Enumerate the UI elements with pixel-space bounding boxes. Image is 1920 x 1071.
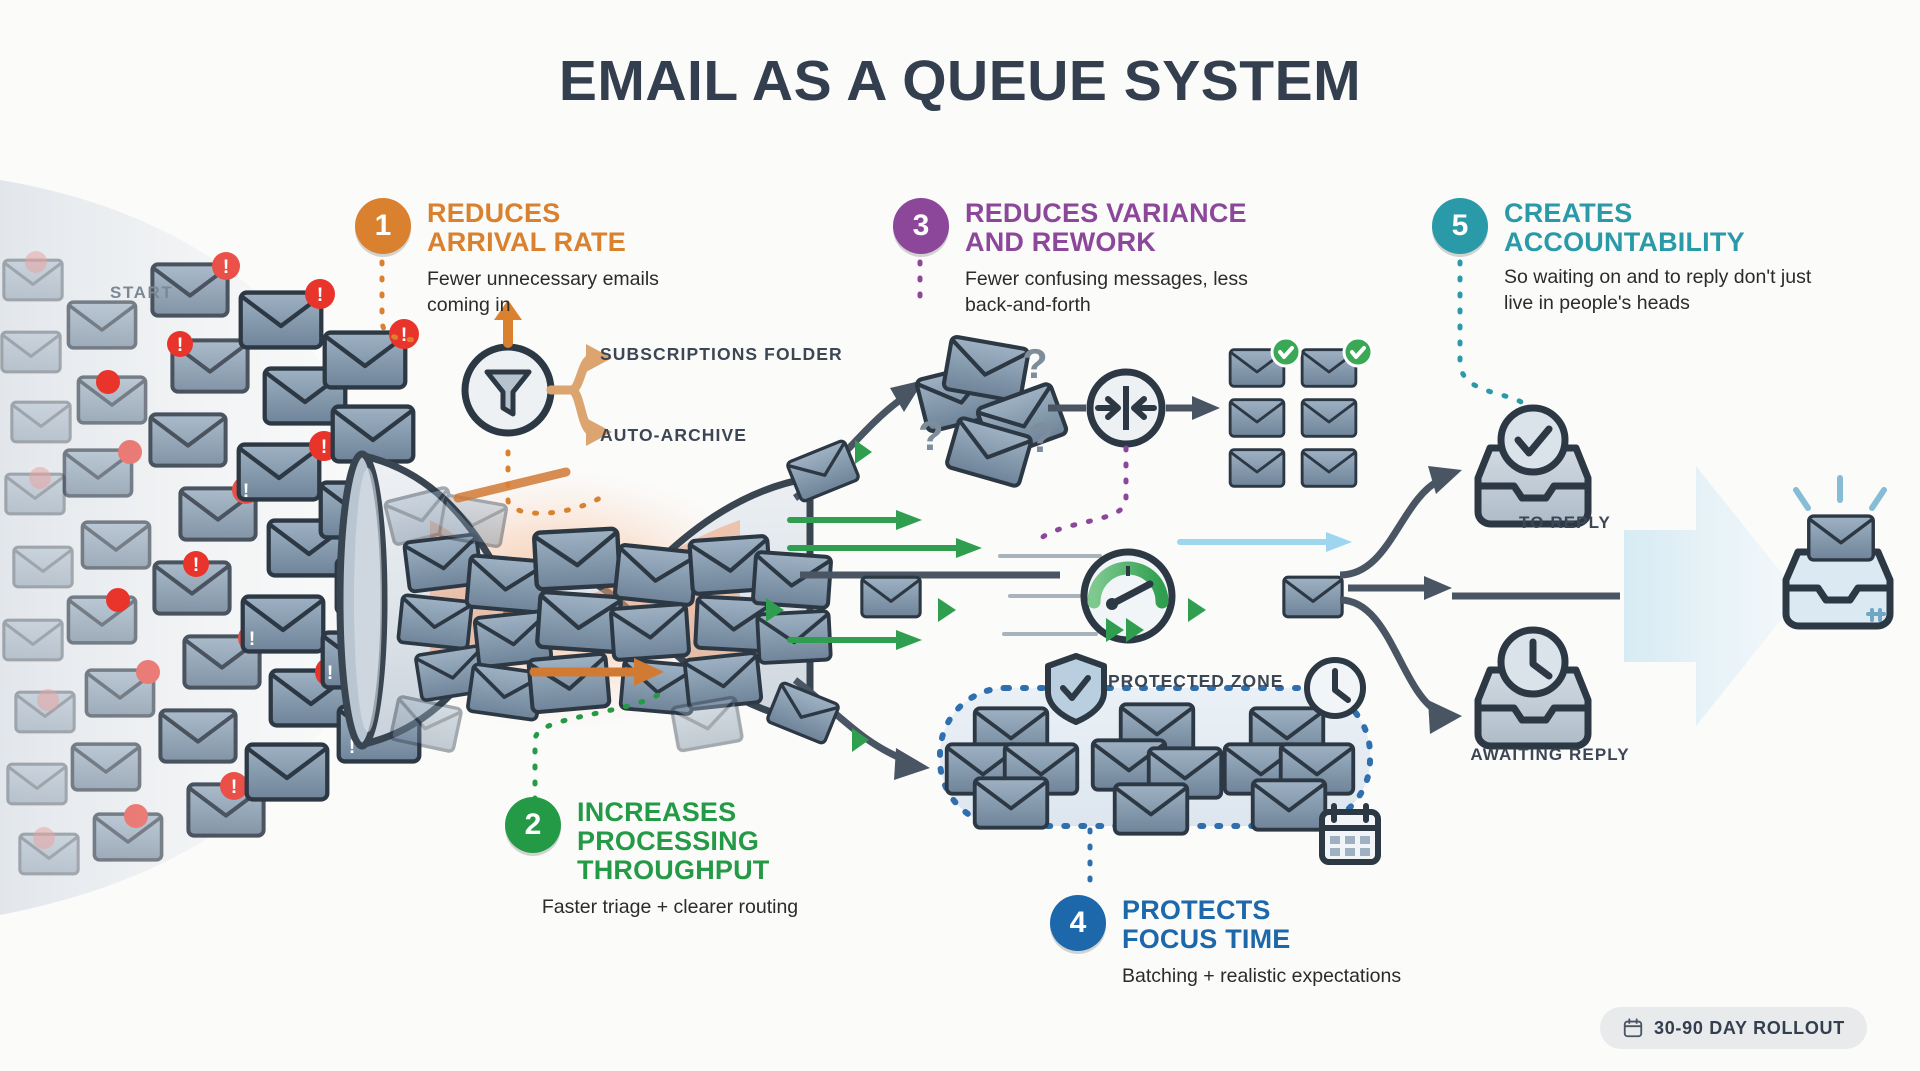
callout-creates-accountability: 5 CREATES ACCOUNTABILITY So waiting on a…: [1432, 196, 1844, 316]
svg-text:!: !: [193, 555, 199, 576]
diagram-artwork: !! !! !! !! !! !! !!: [0, 0, 1920, 1071]
callout-reduces-arrival-rate: 1 REDUCES ARRIVAL RATE Fewer unnecessary…: [355, 196, 697, 318]
rollout-badge-label: 30-90 DAY ROLLOUT: [1654, 1018, 1845, 1039]
protected-zone-label: PROTECTED ZONE: [1108, 671, 1283, 692]
filter-icon-group: [465, 300, 612, 446]
svg-text:!: !: [177, 335, 183, 356]
svg-text:!: !: [347, 513, 353, 534]
svg-text:!: !: [249, 629, 255, 650]
callout-5-subtitle: So waiting on and to reply don't just li…: [1504, 265, 1844, 316]
start-label: START: [110, 283, 173, 303]
callout-reduces-variance-and-rework: 3 REDUCES VARIANCE AND REWORK Fewer conf…: [893, 196, 1265, 318]
svg-text:!: !: [317, 285, 323, 306]
callout-2-subtitle: Faster triage + clearer routing: [505, 895, 835, 920]
svg-text:!: !: [243, 481, 249, 502]
rollout-badge: 30-90 DAY ROLLOUT: [1600, 1007, 1867, 1049]
callout-4-subtitle: Batching + realistic expectations: [1122, 964, 1482, 989]
callout-3-title: REDUCES VARIANCE AND REWORK: [965, 196, 1247, 257]
svg-text:!: !: [231, 777, 237, 798]
callout-1-title-line-1: REDUCES: [427, 199, 626, 228]
callout-protects-focus-time: 4 PROTECTS FOCUS TIME Batching + realist…: [1050, 893, 1482, 990]
svg-text:?: ?: [1022, 340, 1048, 387]
svg-text:?: ?: [1028, 414, 1054, 461]
svg-text:!: !: [349, 737, 355, 758]
awaiting-reply-tray-group: [1478, 630, 1588, 746]
callout-2-title: INCREASES PROCESSING THROUGHPUT: [577, 795, 770, 885]
callout-5-title: CREATES ACCOUNTABILITY: [1504, 196, 1745, 257]
callout-4-number: 4: [1050, 895, 1106, 951]
callout-4-title-line-2: FOCUS TIME: [1122, 925, 1291, 954]
clean-inbox-group: [1786, 478, 1890, 626]
subscriptions-folder-label: SUBSCRIPTIONS FOLDER: [600, 344, 843, 365]
callout-2-title-line-1: INCREASES: [577, 798, 770, 827]
svg-text:!: !: [223, 257, 229, 278]
callout-1-title: REDUCES ARRIVAL RATE: [427, 196, 626, 257]
callout-1-number: 1: [355, 198, 411, 254]
callout-5-number: 5: [1432, 198, 1488, 254]
callout-3-title-line-2: AND REWORK: [965, 228, 1247, 257]
page-title: EMAIL AS A QUEUE SYSTEM: [0, 48, 1920, 114]
callout-2-number: 2: [505, 797, 561, 853]
svg-text:!: !: [395, 475, 401, 496]
calendar-icon: [1622, 1017, 1644, 1039]
svg-text:!: !: [327, 663, 333, 684]
callout-2-title-line-3: THROUGHPUT: [577, 856, 770, 885]
routing-lanes: [795, 400, 1060, 760]
to-reply-label: TO REPLY: [1470, 513, 1660, 533]
callout-2-title-line-2: PROCESSING: [577, 827, 770, 856]
svg-text:!: !: [413, 625, 419, 646]
callout-5-title-line-2: ACCOUNTABILITY: [1504, 228, 1745, 257]
svg-text:!: !: [401, 325, 407, 346]
svg-text:!: !: [321, 437, 327, 458]
callout-4-title-line-1: PROTECTS: [1122, 896, 1291, 925]
callout-4-title: PROTECTS FOCUS TIME: [1122, 893, 1291, 954]
callout-3-title-line-1: REDUCES VARIANCE: [965, 199, 1247, 228]
callout-5-title-line-1: CREATES: [1504, 199, 1745, 228]
callout-increases-processing-throughput: 2 INCREASES PROCESSING THROUGHPUT Faster…: [505, 795, 835, 921]
infographic-canvas: !! !! !! !! !! !! !!: [0, 0, 1920, 1071]
callout-1-title-line-2: ARRIVAL RATE: [427, 228, 626, 257]
awaiting-reply-label: AWAITING REPLY: [1455, 744, 1645, 765]
callout-1-subtitle: Fewer unnecessary emails coming in: [427, 267, 697, 318]
svg-text:?: ?: [918, 412, 944, 459]
bottleneck-funnel: [340, 454, 831, 752]
callout-3-subtitle: Fewer confusing messages, less back-and-…: [965, 267, 1265, 318]
callout-3-number: 3: [893, 198, 949, 254]
auto-archive-label: AUTO-ARCHIVE: [600, 425, 747, 446]
speedometer-icon-group: [1084, 552, 1172, 642]
incoming-email-flood: !! !! !! !! !! !! !!: [2, 251, 431, 874]
to-reply-tray-group: [1478, 408, 1588, 524]
